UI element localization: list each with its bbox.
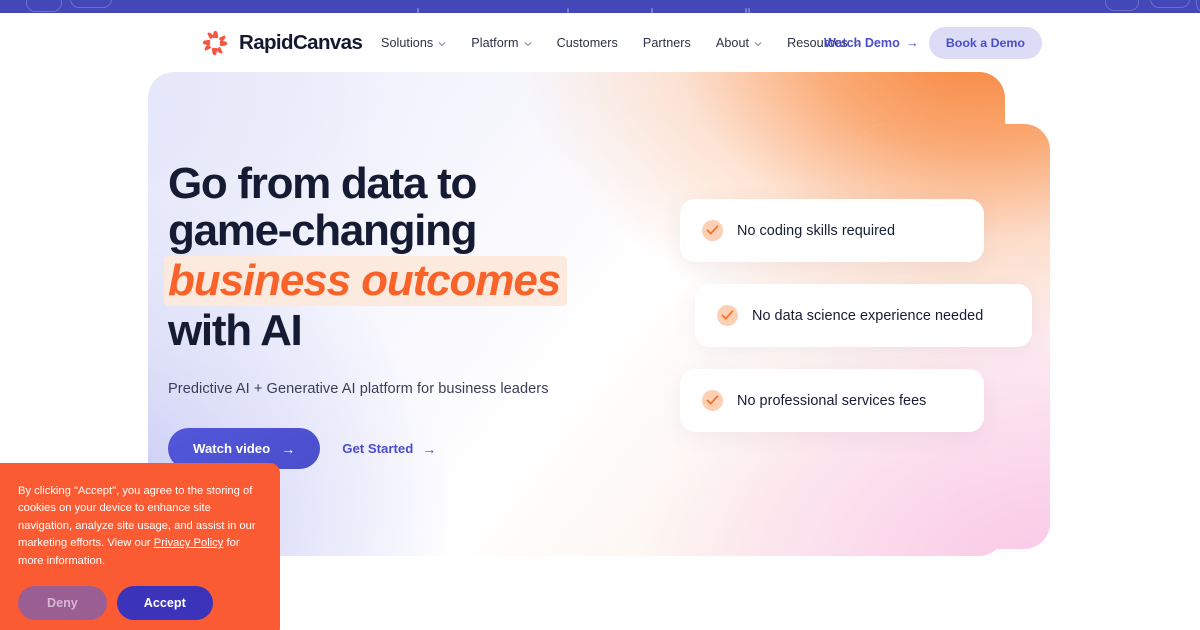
check-circle-icon — [717, 305, 738, 326]
nav-item-label: Solutions — [381, 36, 433, 50]
feature-card-label: No professional services fees — [737, 393, 926, 409]
announcement-decor-shape — [1150, 0, 1190, 8]
get-started-label: Get Started — [342, 441, 413, 456]
main-navigation: Solutions Platform Customers Partners Ab… — [381, 36, 861, 50]
nav-item-label: Partners — [643, 36, 691, 50]
brand-name: RapidCanvas — [239, 31, 362, 55]
check-circle-icon — [702, 390, 723, 411]
feature-card: No coding skills required — [680, 199, 984, 262]
book-a-demo-button[interactable]: Book a Demo — [929, 27, 1042, 59]
announcement-decor-shape — [1196, 0, 1200, 13]
announcement-decor-shape — [1105, 0, 1139, 11]
nav-item-customers[interactable]: Customers — [557, 36, 618, 50]
page-root: RapidCanvas Solutions Platform Customers… — [0, 0, 1200, 630]
get-started-link[interactable]: Get Started → — [334, 435, 444, 462]
deny-cookies-button[interactable]: Deny — [18, 586, 107, 620]
privacy-policy-link[interactable]: Privacy Policy — [154, 537, 224, 549]
nav-item-label: Customers — [557, 36, 618, 50]
nav-item-solutions[interactable]: Solutions — [381, 36, 446, 50]
chevron-down-icon — [524, 40, 532, 48]
nav-item-about[interactable]: About — [716, 36, 762, 50]
brand-logo[interactable]: RapidCanvas — [200, 28, 362, 58]
announcement-bar[interactable] — [0, 0, 1200, 13]
headline-emphasis: business outcomes — [164, 256, 567, 306]
site-header: RapidCanvas Solutions Platform Customers… — [0, 13, 1200, 72]
hero-subheadline: Predictive AI + Generative AI platform f… — [168, 379, 638, 399]
watch-demo-link[interactable]: Watch Demo → — [824, 36, 919, 50]
cookie-consent-text: By clicking "Accept", you agree to the s… — [18, 483, 260, 570]
check-circle-icon — [702, 220, 723, 241]
headline-line-1: Go from data to — [168, 159, 476, 208]
header-actions: Watch Demo → Book a Demo — [824, 27, 1042, 59]
accept-cookies-button[interactable]: Accept — [117, 586, 213, 620]
announcement-decor-shape — [70, 0, 112, 8]
nav-item-label: Platform — [471, 36, 518, 50]
feature-card: No data science experience needed — [695, 284, 1032, 347]
rapidcanvas-swirl-logo-icon — [200, 28, 230, 58]
headline-line-4: with AI — [168, 306, 301, 355]
cookie-consent-banner: By clicking "Accept", you agree to the s… — [0, 463, 280, 630]
chevron-down-icon — [754, 40, 762, 48]
arrow-right-icon: → — [906, 36, 919, 49]
nav-item-partners[interactable]: Partners — [643, 36, 691, 50]
hero-content: Go from data to game-changing business o… — [168, 160, 638, 469]
page-title: Go from data to game-changing business o… — [168, 160, 638, 354]
watch-video-label: Watch video — [193, 441, 270, 456]
watch-demo-label: Watch Demo — [824, 36, 900, 50]
arrow-right-icon: → — [281, 442, 295, 456]
nav-item-platform[interactable]: Platform — [471, 36, 531, 50]
feature-card: No professional services fees — [680, 369, 984, 432]
announcement-decor-shape — [26, 0, 62, 12]
nav-item-label: About — [716, 36, 749, 50]
arrow-right-icon: → — [422, 442, 436, 456]
headline-line-2: game-changing — [168, 206, 476, 255]
cookie-consent-actions: Deny Accept — [18, 586, 260, 620]
chevron-down-icon — [438, 40, 446, 48]
feature-card-label: No coding skills required — [737, 223, 895, 239]
feature-card-label: No data science experience needed — [752, 308, 983, 324]
